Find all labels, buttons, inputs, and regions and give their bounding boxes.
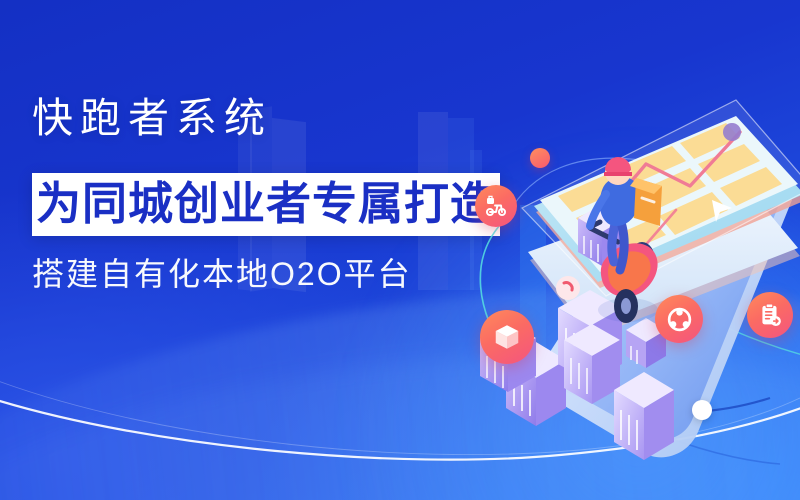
white-dot-bottom: [692, 400, 712, 420]
package-badge[interactable]: [480, 310, 534, 364]
subheadline: 搭建自有化本地O2O平台: [32, 258, 500, 290]
isometric-phone: [440, 60, 800, 500]
package-box-icon: [492, 322, 522, 352]
scooter-badge[interactable]: [475, 185, 517, 227]
network-badge[interactable]: [655, 295, 703, 343]
promo-banner: 快跑者系统 为同城创业者专属打造 搭建自有化本地O2O平台: [0, 0, 800, 500]
headline-highlight: 为同城创业者专属打造: [32, 173, 500, 236]
order-badge[interactable]: [747, 292, 793, 338]
building-i: [614, 372, 674, 460]
brand-title: 快跑者系统: [32, 98, 500, 139]
clipboard-arrow-icon: [757, 302, 783, 328]
highlight-wrapper: 为同城创业者专属打造: [32, 173, 500, 236]
orange-dot-top: [530, 148, 550, 168]
network-share-icon: [666, 306, 693, 333]
headline-group: 快跑者系统 为同城创业者专属打造 搭建自有化本地O2O平台: [32, 98, 500, 290]
scooter-icon: [484, 194, 508, 218]
hero-illustration: [440, 60, 800, 500]
